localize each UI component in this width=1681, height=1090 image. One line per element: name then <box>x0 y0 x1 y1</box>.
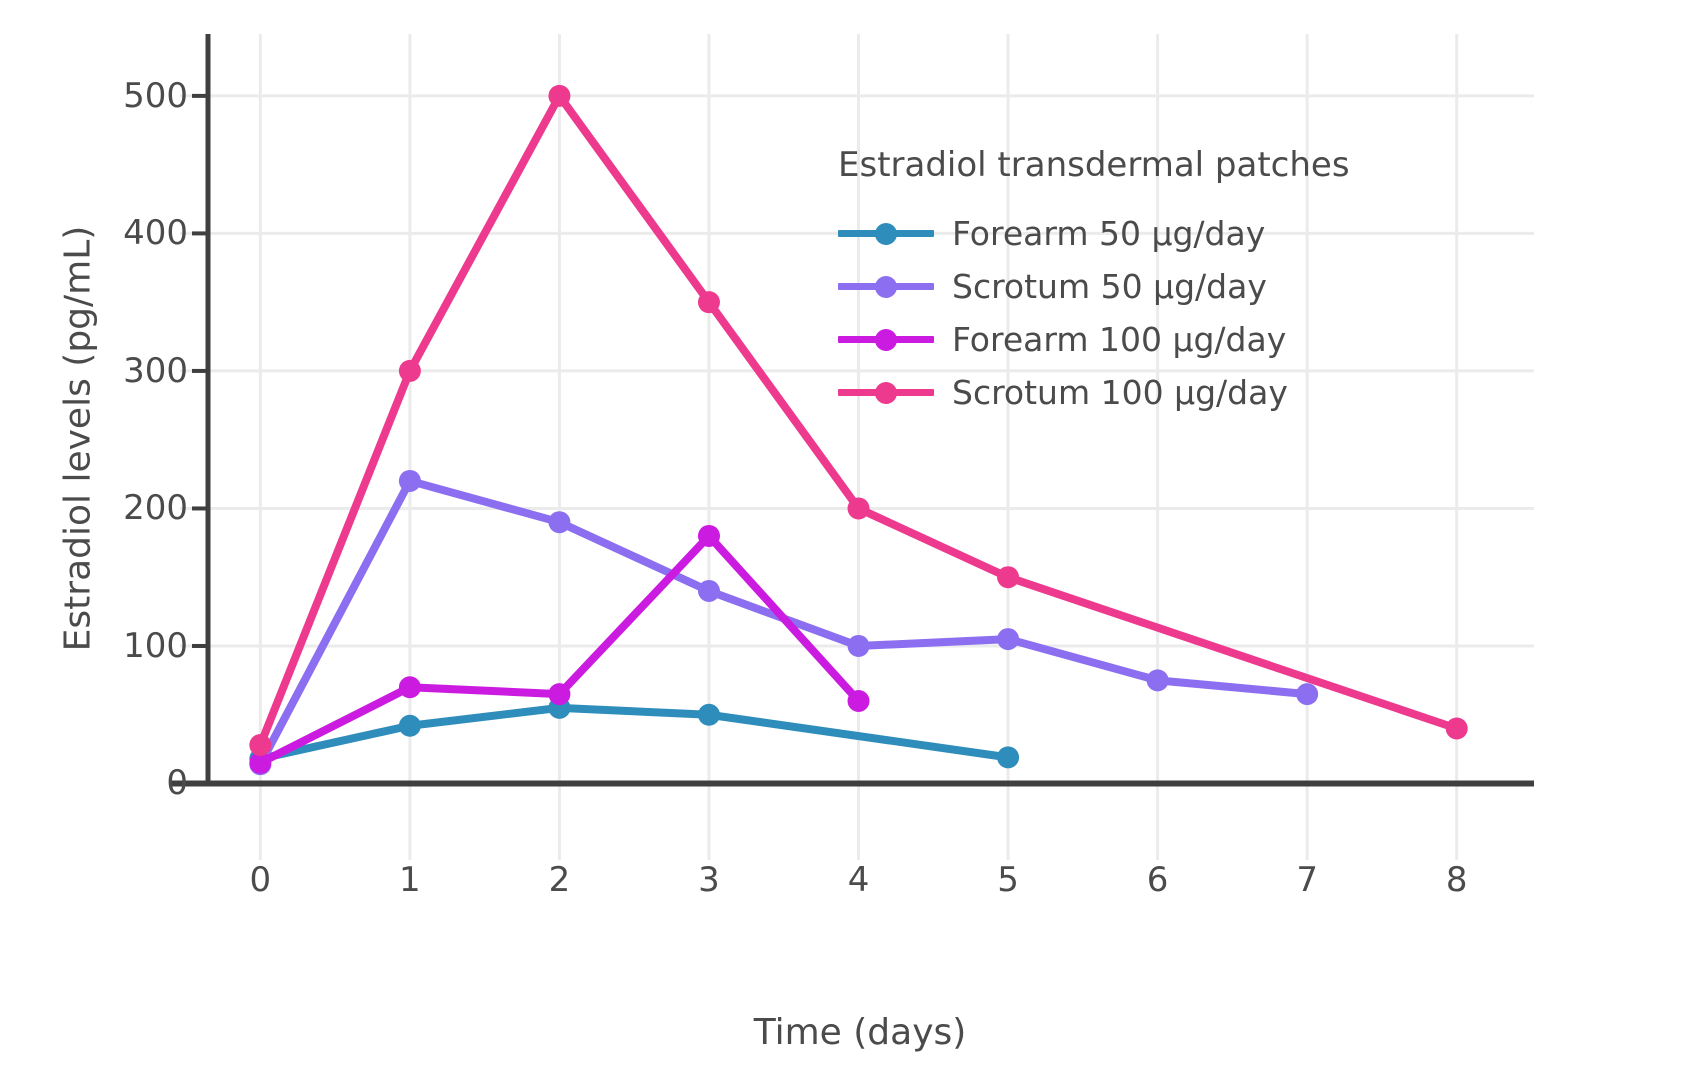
series-point-0-1 <box>399 715 421 737</box>
series-point-0-4 <box>997 746 1019 768</box>
series-point-1-7 <box>1296 683 1318 705</box>
x-axis-title: Time (days) <box>200 1012 1520 1053</box>
series-point-1-1 <box>399 470 421 492</box>
series-point-3-2 <box>548 85 570 107</box>
x-tick-label: 4 <box>848 860 870 900</box>
x-tick-label: 2 <box>549 860 571 900</box>
series-point-3-0 <box>249 734 271 756</box>
series-point-1-3 <box>698 580 720 602</box>
legend-swatch-icon <box>838 217 934 251</box>
legend-entries: Forearm 50 µg/dayScrotum 50 µg/dayForear… <box>838 207 1378 419</box>
series-point-3-4 <box>848 497 870 519</box>
series-point-3-5 <box>997 566 1019 588</box>
x-tick-label: 0 <box>250 860 272 900</box>
legend-entry-0[interactable]: Forearm 50 µg/day <box>838 207 1378 260</box>
y-tick-label: 300 <box>18 351 188 391</box>
legend-title: Estradiol transdermal patches <box>838 145 1378 185</box>
series-point-0-3 <box>698 704 720 726</box>
series-point-2-3 <box>698 525 720 547</box>
series-point-2-1 <box>399 676 421 698</box>
x-tick-label: 7 <box>1296 860 1318 900</box>
y-axis-title: Estradiol levels (pg/mL) <box>58 129 99 749</box>
series-point-2-2 <box>548 683 570 705</box>
series-point-1-5 <box>997 628 1019 650</box>
x-tick-label: 8 <box>1446 860 1468 900</box>
legend-entry-1[interactable]: Scrotum 50 µg/day <box>838 260 1378 313</box>
x-tick-label: 5 <box>997 860 1019 900</box>
y-tick-label: 0 <box>18 763 188 803</box>
x-tick-label: 3 <box>698 860 720 900</box>
y-tick-label: 500 <box>18 76 188 116</box>
series-point-2-4 <box>848 690 870 712</box>
series-point-1-2 <box>548 511 570 533</box>
x-tick-label: 1 <box>399 860 421 900</box>
legend-entry-3[interactable]: Scrotum 100 µg/day <box>838 366 1378 419</box>
legend-label: Forearm 100 µg/day <box>952 320 1286 359</box>
series-line-0 <box>260 708 1008 759</box>
legend-label: Forearm 50 µg/day <box>952 214 1265 253</box>
legend-entry-2[interactable]: Forearm 100 µg/day <box>838 313 1378 366</box>
series-point-1-6 <box>1147 669 1169 691</box>
y-tick-label: 400 <box>18 213 188 253</box>
x-tick-label: 6 <box>1147 860 1169 900</box>
y-tick-label: 200 <box>18 488 188 528</box>
legend-swatch-icon <box>838 270 934 304</box>
y-tick-label: 100 <box>18 626 188 666</box>
chart-legend: Estradiol transdermal patches Forearm 50… <box>838 145 1378 419</box>
legend-swatch-icon <box>838 376 934 410</box>
legend-swatch-icon <box>838 323 934 357</box>
chart-figure: 0100200300400500 012345678 Estradiol lev… <box>0 0 1681 1090</box>
series-point-3-1 <box>399 360 421 382</box>
series-point-3-3 <box>698 291 720 313</box>
legend-label: Scrotum 100 µg/day <box>952 373 1288 412</box>
series-point-3-6 <box>1446 717 1468 739</box>
legend-label: Scrotum 50 µg/day <box>952 267 1267 306</box>
series-point-1-4 <box>848 635 870 657</box>
